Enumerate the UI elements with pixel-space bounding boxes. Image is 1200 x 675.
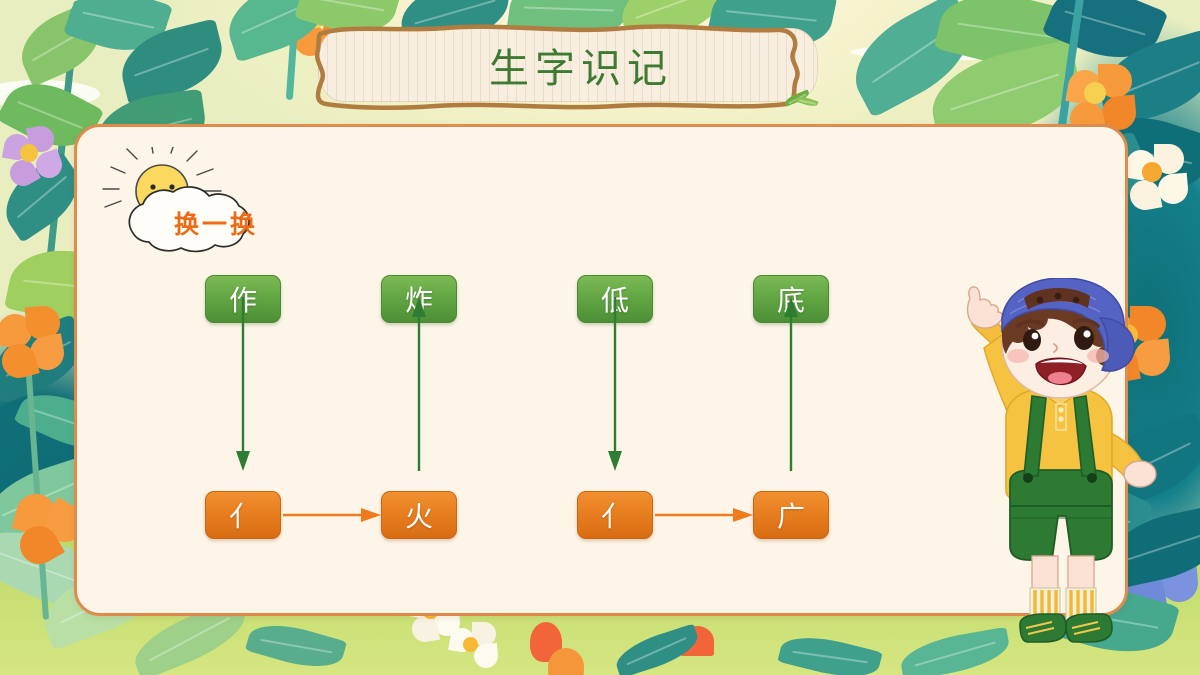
slide-root: 生字识记 (0, 0, 1200, 675)
boy-mascot-illustration (940, 278, 1180, 660)
char-box-bottom-left[interactable]: 亻 (577, 491, 653, 539)
char-box-bottom-left[interactable]: 亻 (205, 491, 281, 539)
char-box-bottom-right[interactable]: 广 (753, 491, 829, 539)
down-arrow-icon (597, 295, 633, 473)
character-group-2: 低 底 亻 广 (577, 275, 973, 547)
up-arrow-icon (773, 295, 809, 473)
right-arrow-icon (277, 497, 387, 533)
char-box-bottom-right[interactable]: 火 (381, 491, 457, 539)
character-group-1: 作 炸 亻 火 (205, 275, 601, 547)
right-arrow-icon (649, 497, 759, 533)
up-arrow-icon (401, 295, 437, 473)
title-banner: 生字识记 (318, 28, 818, 102)
down-arrow-icon (225, 295, 261, 473)
page-title: 生字识记 (318, 28, 818, 102)
